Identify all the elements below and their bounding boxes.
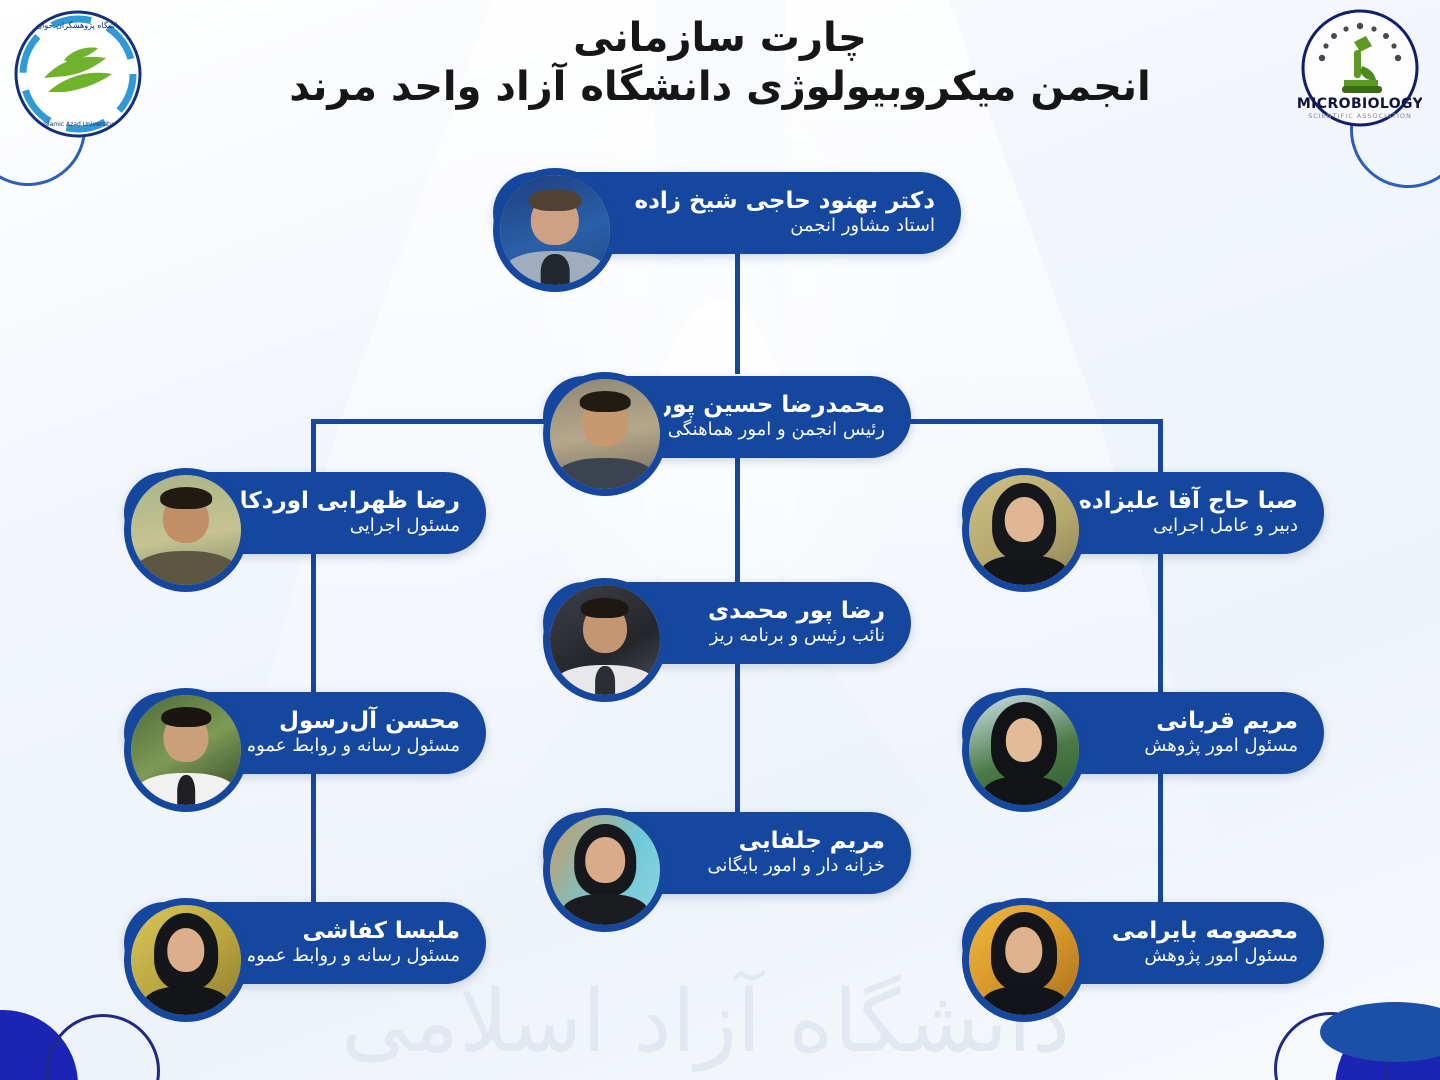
org-node-head-role: رئیس انجمن و امور هماهنگی: [661, 419, 885, 441]
org-node-head-name: محمدرضا حسین پور: [661, 393, 885, 419]
org-node-res2[interactable]: معصومه بایرامی مسئول امور پژوهش: [962, 898, 1324, 988]
org-node-secretary-name: صبا حاج آقا علیزاده: [1080, 489, 1298, 515]
org-node-media1-avatar: [124, 688, 248, 812]
org-node-advisor-avatar: [493, 168, 617, 292]
org-node-res2-role: مسئول امور پژوهش: [1080, 945, 1298, 967]
page-title: چارت سازمانی انجمن میکروبیولوژی دانشگاه …: [0, 14, 1440, 112]
org-node-exec-name: رضا ظهرابی اوردکلو: [242, 489, 460, 515]
org-node-advisor-name: دکتر بهنود حاجی شیخ زاده: [611, 189, 935, 215]
org-node-media1-name: محسن آل‌رسول: [242, 709, 460, 735]
org-node-deputy-avatar: [543, 578, 667, 702]
org-node-treasurer-name: مریم جلفایی: [661, 829, 885, 855]
org-node-deputy-name: رضا پور محمدی: [661, 599, 885, 625]
connector-advisor-to-head: [735, 250, 740, 374]
title-line-1: چارت سازمانی: [0, 14, 1440, 63]
org-node-media2-name: ملیسا کفاشی: [242, 919, 460, 945]
org-node-treasurer-avatar: [543, 808, 667, 932]
org-node-deputy[interactable]: رضا پور محمدی نائب رئیس و برنامه ریز: [543, 578, 911, 668]
svg-text:Islamic Azad University: Islamic Azad University: [43, 121, 113, 128]
org-node-treasurer[interactable]: مریم جلفایی خزانه دار و امور بایگانی: [543, 808, 911, 898]
org-node-secretary[interactable]: صبا حاج آقا علیزاده دبیر و عامل اجرایی: [962, 468, 1324, 558]
org-node-media1[interactable]: محسن آل‌رسول مسئول رسانه و روابط عمومی: [124, 688, 486, 778]
org-node-res1[interactable]: مریم قربانی مسئول امور پژوهش: [962, 688, 1324, 778]
org-node-media2-role: مسئول رسانه و روابط عمومی: [242, 945, 460, 967]
org-node-exec-role: مسئول اجرایی: [242, 515, 460, 537]
org-node-head-avatar: [543, 372, 667, 496]
org-node-res1-name: مریم قربانی: [1080, 709, 1298, 735]
org-node-res2-avatar: [962, 898, 1086, 1022]
org-node-res1-role: مسئول امور پژوهش: [1080, 735, 1298, 757]
org-node-secretary-avatar: [962, 468, 1086, 592]
svg-text:SCIENTIFIC ASSOCIATION: SCIENTIFIC ASSOCIATION: [1308, 112, 1412, 120]
org-node-deputy-role: نائب رئیس و برنامه ریز: [661, 625, 885, 647]
org-node-advisor-role: استاد مشاور انجمن: [611, 215, 935, 237]
org-node-media2[interactable]: ملیسا کفاشی مسئول رسانه و روابط عمومی: [124, 898, 486, 988]
org-node-res1-avatar: [962, 688, 1086, 812]
org-node-treasurer-role: خزانه دار و امور بایگانی: [661, 855, 885, 877]
org-node-secretary-role: دبیر و عامل اجرایی: [1080, 515, 1298, 537]
org-node-res2-name: معصومه بایرامی: [1080, 919, 1298, 945]
title-line-2: انجمن میکروبیولوژی دانشگاه آزاد واحد مرن…: [0, 63, 1440, 112]
org-node-advisor[interactable]: دکتر بهنود حاجی شیخ زاده استاد مشاور انج…: [493, 168, 961, 258]
org-node-exec-avatar: [124, 468, 248, 592]
org-node-exec[interactable]: رضا ظهرابی اوردکلو مسئول اجرایی: [124, 468, 486, 558]
org-node-head[interactable]: محمدرضا حسین پور رئیس انجمن و امور هماهن…: [543, 372, 911, 462]
org-node-media2-avatar: [124, 898, 248, 1022]
org-node-media1-role: مسئول رسانه و روابط عمومی: [242, 735, 460, 757]
